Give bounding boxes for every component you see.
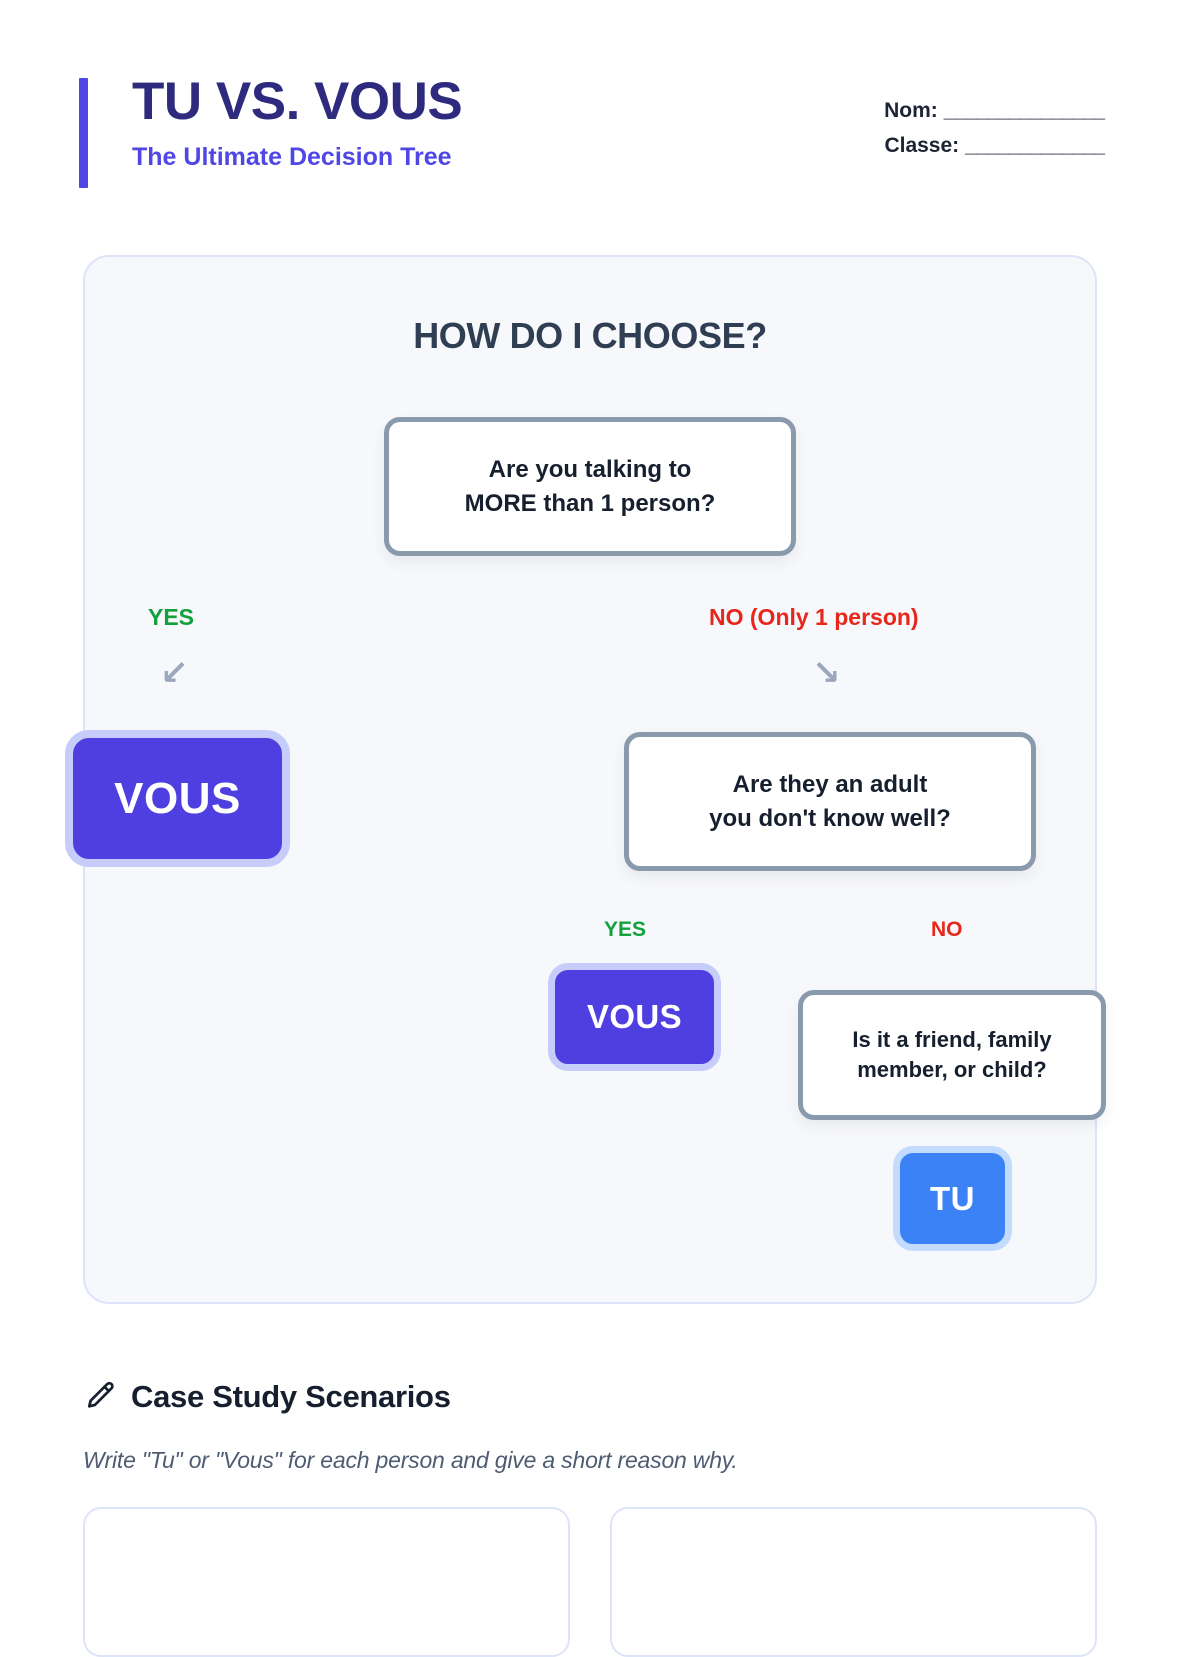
student-info-fields: Nom: _______________ Classe: ___________…: [884, 100, 1104, 170]
case-study-card[interactable]: [83, 1507, 570, 1657]
branch-label-yes-2: YES: [604, 918, 646, 942]
decision-box-question-1: Are you talking to MORE than 1 person?: [384, 417, 796, 556]
page-header: TU VS. VOUS The Ultimate Decision Tree N…: [0, 0, 1200, 245]
header-accent-bar: [79, 78, 88, 188]
decision-box-question-2: Are they an adult you don't know well?: [624, 732, 1036, 871]
answer-badge-tu: TU: [893, 1146, 1012, 1251]
question-3-line-1: Is it a friend, family: [852, 1027, 1051, 1052]
case-study-heading: Case Study Scenarios: [83, 1375, 1097, 1419]
class-field-blank[interactable]: _____________: [965, 135, 1104, 156]
name-field-label: Nom:: [884, 100, 938, 121]
page-subtitle: The Ultimate Decision Tree: [132, 143, 462, 172]
branch-label-no-2: NO: [931, 918, 963, 942]
page-title: TU VS. VOUS: [132, 74, 462, 130]
class-field-row: Classe: _____________: [884, 135, 1104, 156]
flowchart-title: HOW DO I CHOOSE?: [85, 315, 1095, 357]
class-field-label: Classe:: [884, 135, 959, 156]
question-1-line-1: Are you talking to: [489, 456, 692, 483]
case-study-section: Case Study Scenarios Write "Tu" or "Vous…: [83, 1375, 1097, 1657]
answer-badge-vous-2: VOUS: [548, 963, 721, 1071]
name-field-blank[interactable]: _______________: [944, 100, 1104, 121]
case-study-card[interactable]: [610, 1507, 1097, 1657]
answer-badge-vous-1: VOUS: [65, 730, 290, 867]
title-block: TU VS. VOUS The Ultimate Decision Tree: [132, 74, 462, 172]
case-study-heading-text: Case Study Scenarios: [131, 1379, 451, 1415]
question-3-line-2: member, or child?: [857, 1057, 1047, 1082]
branch-label-yes-1: YES: [148, 604, 194, 631]
arrow-down-right-icon: ↘: [812, 656, 841, 690]
pencil-icon: [83, 1380, 117, 1414]
case-study-instruction: Write "Tu" or "Vous" for each person and…: [83, 1447, 1097, 1474]
case-study-card-list: [83, 1507, 1097, 1657]
question-1-line-2: MORE than 1 person?: [465, 490, 716, 517]
question-2-line-2: you don't know well?: [709, 805, 951, 832]
branch-label-no-1: NO (Only 1 person): [709, 604, 919, 631]
arrow-down-left-icon: ↙: [160, 656, 189, 690]
question-2-line-1: Are they an adult: [733, 771, 928, 798]
decision-box-question-3: Is it a friend, family member, or child?: [798, 990, 1106, 1120]
name-field-row: Nom: _______________: [884, 100, 1104, 121]
